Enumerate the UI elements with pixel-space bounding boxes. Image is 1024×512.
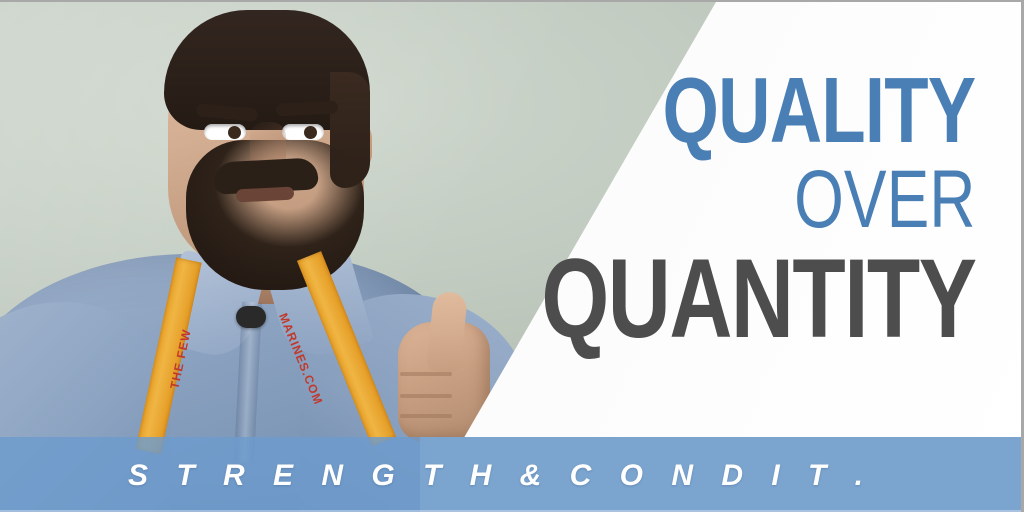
eye-right [282,124,324,140]
pupil-left [228,126,241,139]
pupil-right [304,126,317,139]
banner-title-text: S T R E N G T H & C O N D I T . [128,437,873,512]
headline-line-over: OVER [541,162,975,237]
knuckle-line-3 [400,414,452,418]
knuckle-line-1 [400,372,452,376]
knuckle-line-2 [400,394,452,398]
lapel-microphone-icon [236,306,266,328]
headline-line-quality: QUALITY [541,68,975,154]
headline-line-quantity: QUANTITY [541,247,975,350]
bottom-banner: S T R E N G T H & C O N D I T . [0,437,1024,512]
promo-banner-image: THE FEW MARINES.COM QUALITY OVER QUANTIT… [0,0,1024,512]
headline-block: QUALITY OVER QUANTITY [419,68,975,350]
